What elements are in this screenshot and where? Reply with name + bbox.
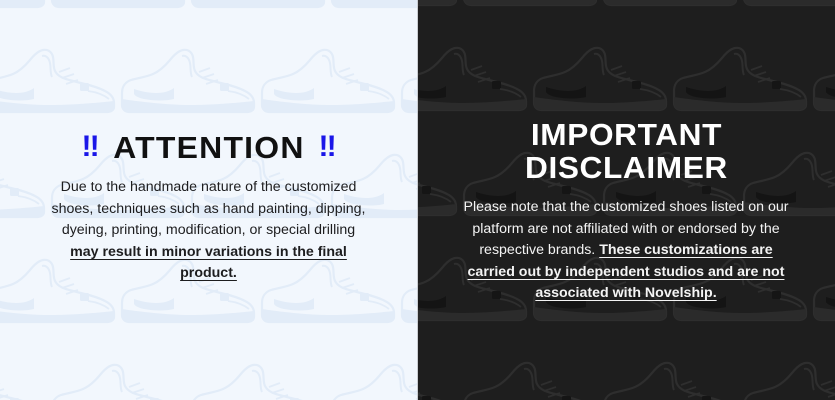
attention-body-emphasis: may result in minor variations in the fi… (70, 244, 347, 282)
attention-body-normal: Due to the handmade nature of the custom… (52, 179, 366, 238)
attention-body: Due to the handmade nature of the custom… (50, 177, 368, 285)
disclaimer-panel: IMPORTANT DISCLAIMER Please note that th… (417, 0, 835, 400)
disclaimer-title-line-1: IMPORTANT (525, 118, 728, 151)
disclaimer-banner: ‼ ATTENTION ‼ Due to the handmade nature… (0, 0, 835, 400)
attention-content: ‼ ATTENTION ‼ Due to the handmade nature… (0, 0, 417, 400)
disclaimer-title-line-2: DISCLAIMER (525, 151, 728, 184)
double-exclamation-right-icon: ‼ (318, 132, 335, 162)
attention-title: ATTENTION (113, 132, 304, 163)
attention-panel: ‼ ATTENTION ‼ Due to the handmade nature… (0, 0, 417, 400)
disclaimer-heading: IMPORTANT DISCLAIMER (525, 118, 728, 185)
attention-heading: ‼ ATTENTION ‼ (81, 132, 335, 163)
disclaimer-content: IMPORTANT DISCLAIMER Please note that th… (417, 0, 835, 400)
double-exclamation-left-icon: ‼ (81, 132, 98, 162)
disclaimer-body: Please note that the customized shoes li… (461, 197, 791, 305)
